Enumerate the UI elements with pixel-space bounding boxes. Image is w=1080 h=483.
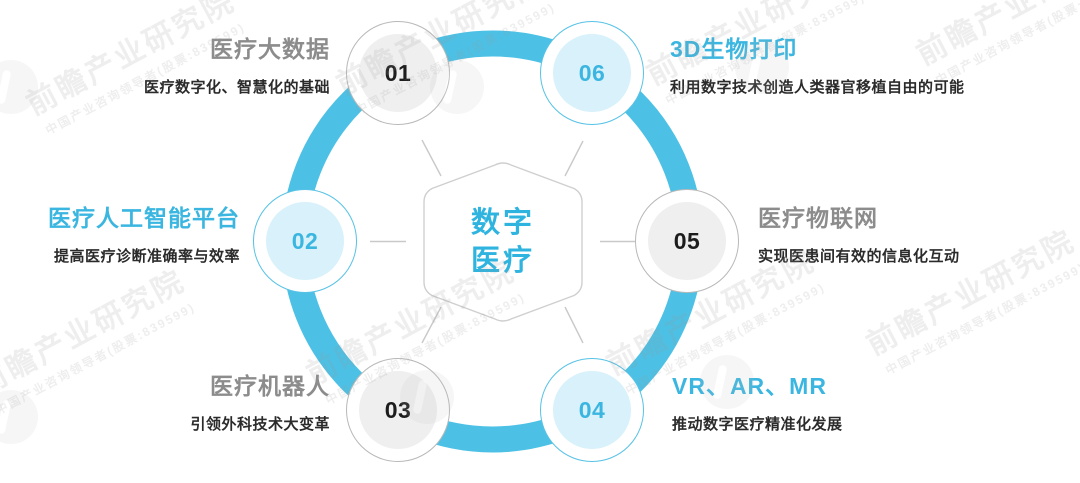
node-number-01: 01 bbox=[359, 34, 437, 112]
label-desc-03: 引领外科技术大变革 bbox=[20, 413, 330, 434]
node-number-05: 05 bbox=[648, 202, 726, 280]
label-title-04: VR、AR、MR bbox=[672, 367, 1052, 401]
label-block-01: 医疗大数据 医疗数字化、智慧化的基础 bbox=[20, 30, 330, 97]
node-circle-02[interactable]: 02 bbox=[253, 189, 357, 293]
node-number-02: 02 bbox=[266, 202, 344, 280]
center-hexagon: 数字 医疗 bbox=[420, 158, 586, 326]
label-desc-05: 实现医患间有效的信息化互动 bbox=[758, 245, 1058, 266]
node-number-06: 06 bbox=[553, 34, 631, 112]
center-label-line-1: 数字 bbox=[471, 204, 535, 242]
label-title-02: 医疗人工智能平台 bbox=[0, 199, 240, 233]
node-circle-04[interactable]: 04 bbox=[540, 358, 644, 462]
label-desc-02: 提高医疗诊断准确率与效率 bbox=[0, 245, 240, 266]
label-block-06: 3D生物打印 利用数字技术创造人类器官移植自由的可能 bbox=[670, 30, 1070, 97]
label-block-05: 医疗物联网 实现医患间有效的信息化互动 bbox=[758, 199, 1058, 266]
center-hexagon-label: 数字 医疗 bbox=[420, 158, 586, 326]
infographic-canvas: 数字 医疗 01 02 03 04 05 06 医疗大数据 医疗数字化、智慧化的… bbox=[0, 0, 1080, 483]
label-title-01: 医疗大数据 bbox=[20, 30, 330, 64]
node-number-03: 03 bbox=[359, 371, 437, 449]
node-circle-06[interactable]: 06 bbox=[540, 21, 644, 125]
label-desc-01: 医疗数字化、智慧化的基础 bbox=[20, 76, 330, 97]
label-desc-04: 推动数字医疗精准化发展 bbox=[672, 413, 1052, 434]
node-circle-03[interactable]: 03 bbox=[346, 358, 450, 462]
node-circle-05[interactable]: 05 bbox=[635, 189, 739, 293]
label-block-04: VR、AR、MR 推动数字医疗精准化发展 bbox=[672, 367, 1052, 434]
label-title-03: 医疗机器人 bbox=[20, 367, 330, 401]
label-block-03: 医疗机器人 引领外科技术大变革 bbox=[20, 367, 330, 434]
label-desc-06: 利用数字技术创造人类器官移植自由的可能 bbox=[670, 76, 1070, 97]
label-title-05: 医疗物联网 bbox=[758, 199, 1058, 233]
node-circle-01[interactable]: 01 bbox=[346, 21, 450, 125]
label-block-02: 医疗人工智能平台 提高医疗诊断准确率与效率 bbox=[0, 199, 240, 266]
node-number-04: 04 bbox=[553, 371, 631, 449]
center-label-line-2: 医疗 bbox=[471, 242, 535, 280]
label-title-06: 3D生物打印 bbox=[670, 30, 1070, 64]
